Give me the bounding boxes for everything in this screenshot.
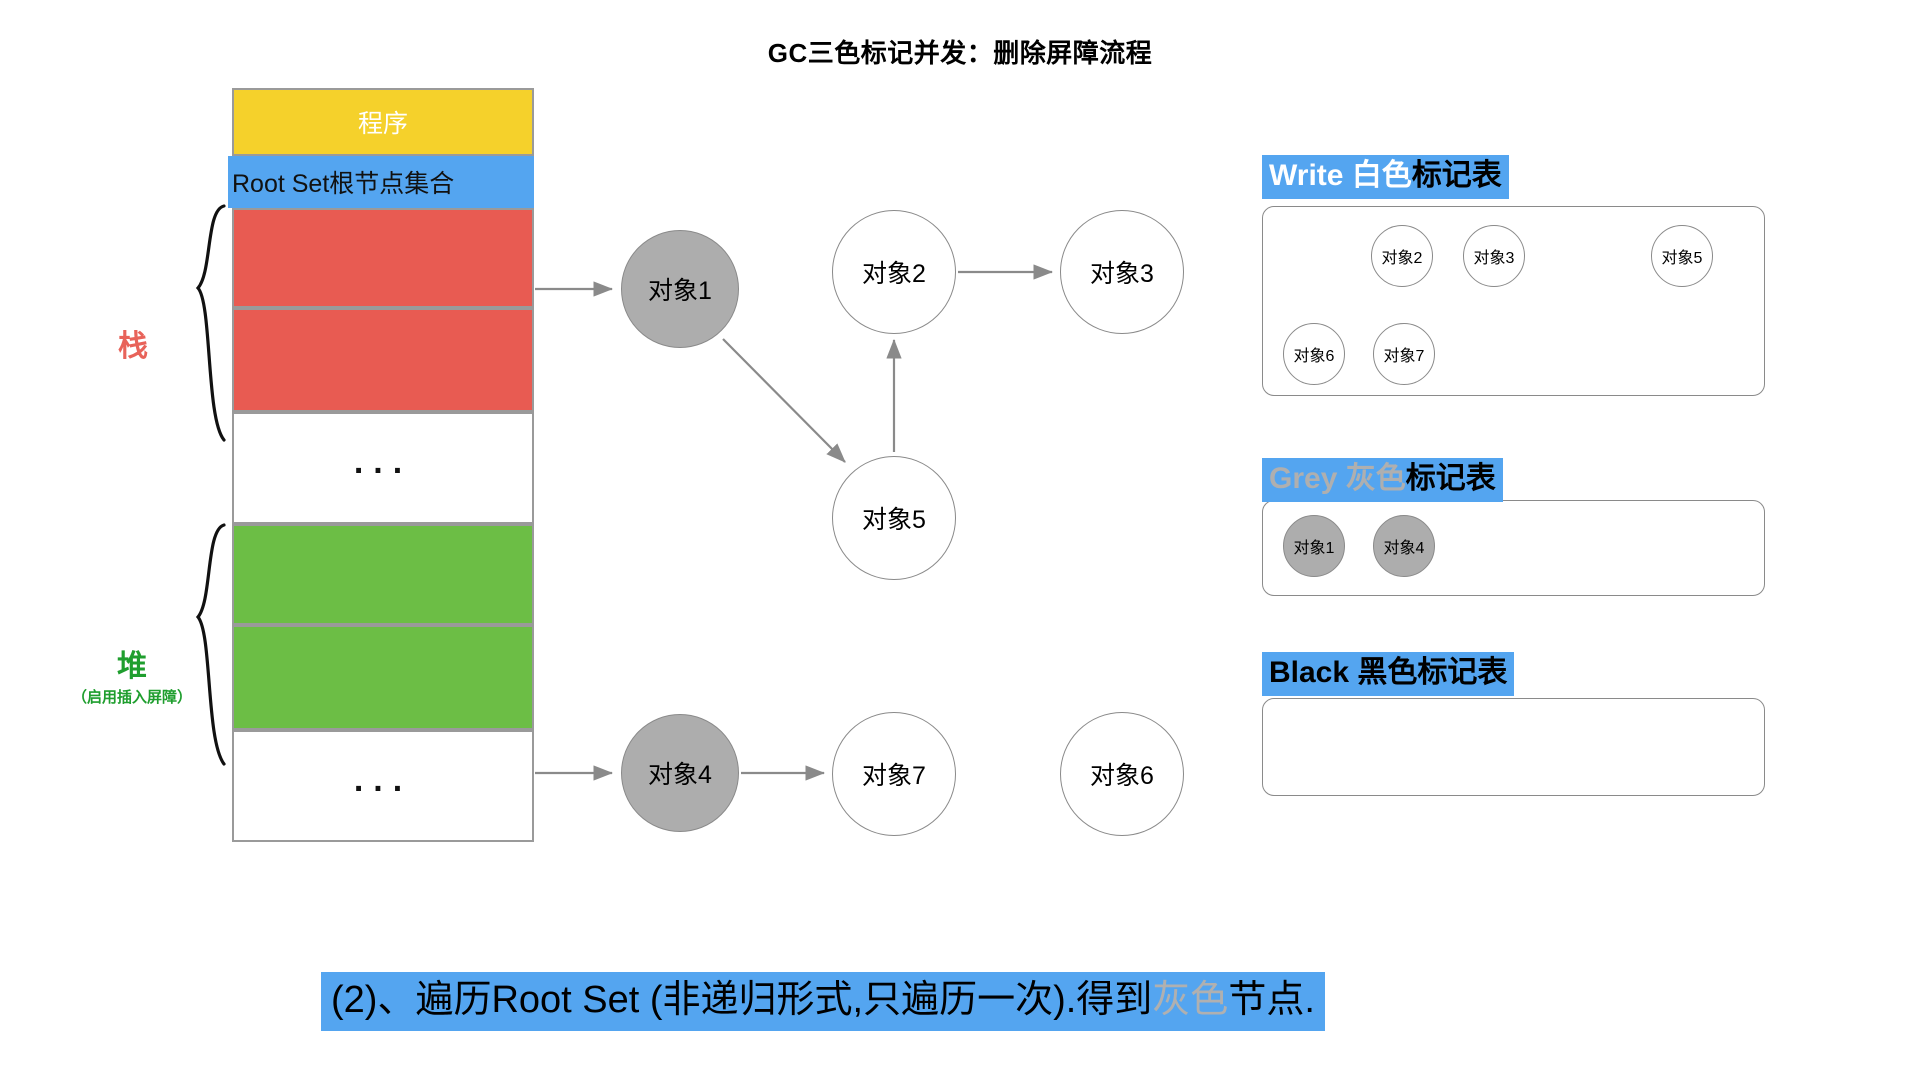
white-chip-obj2: 对象2 — [1371, 225, 1433, 287]
white-mark-table-title-color: 白色 — [1352, 159, 1412, 192]
step-caption: (2)、遍历Root Set (非递归形式,只遍历一次).得到灰色节点. — [321, 972, 1325, 1031]
root-set-block-label: Root Set根节点集合 — [232, 164, 454, 200]
white-chip-obj2-label: 对象2 — [1382, 244, 1423, 268]
black-mark-table-body — [1262, 698, 1765, 796]
heap-ellipsis-label: ... — [354, 763, 412, 797]
white-chip-obj3: 对象3 — [1463, 225, 1525, 287]
white-chip-obj3-label: 对象3 — [1474, 244, 1515, 268]
graph-node-obj3-label: 对象3 — [1090, 254, 1154, 290]
heap-ellipsis-slot: ... — [232, 730, 534, 842]
graph-node-obj6: 对象6 — [1060, 712, 1184, 836]
graph-node-obj2: 对象2 — [832, 210, 956, 334]
graph-node-obj5-label: 对象5 — [862, 500, 926, 536]
stack-brace — [198, 206, 224, 440]
black-mark-table-title-rest: 标记表 — [1417, 656, 1507, 689]
graph-node-obj1: 对象1 — [621, 230, 739, 348]
grey-mark-table-title-en: Grey — [1269, 462, 1337, 495]
white-mark-table-title-rest: 标记表 — [1412, 159, 1502, 192]
black-mark-table-title-color: 黑色 — [1357, 656, 1417, 689]
grey-mark-table-title-color: 灰色 — [1346, 462, 1406, 495]
heap-brace — [198, 525, 224, 764]
stack-slot-2 — [232, 308, 534, 412]
white-chip-obj5: 对象5 — [1651, 225, 1713, 287]
page-title: GC三色标记并发：删除屏障流程 — [0, 33, 1920, 70]
root-set-block: Root Set根节点集合 — [228, 156, 534, 208]
grey-chip-obj1-label: 对象1 — [1294, 534, 1335, 558]
heap-label-text: 堆 — [72, 650, 192, 685]
heap-label-sub: （启用插入屏障） — [72, 689, 192, 706]
heap-slot-2 — [232, 625, 534, 730]
heap-label: 堆 （启用插入屏障） — [72, 650, 192, 706]
step-caption-part1: (2)、遍历Root Set (非递归形式,只遍历一次).得到 — [331, 979, 1152, 1021]
edge-obj1-to-obj5 — [723, 339, 845, 462]
stack-label: 栈 — [88, 330, 178, 365]
grey-chip-obj4-label: 对象4 — [1384, 534, 1425, 558]
program-block-label: 程序 — [358, 104, 408, 140]
stack-ellipsis-slot: ... — [232, 412, 534, 524]
grey-mark-table-title: Grey 灰色标记表 — [1262, 458, 1503, 502]
graph-node-obj3: 对象3 — [1060, 210, 1184, 334]
white-chip-obj7: 对象7 — [1373, 323, 1435, 385]
step-caption-highlight: 灰色 — [1152, 979, 1228, 1021]
graph-node-obj5: 对象5 — [832, 456, 956, 580]
black-mark-table-title: Black 黑色标记表 — [1262, 652, 1514, 696]
white-chip-obj5-label: 对象5 — [1662, 244, 1703, 268]
stack-ellipsis-label: ... — [354, 445, 412, 479]
graph-node-obj4: 对象4 — [621, 714, 739, 832]
white-mark-table-title: Write 白色标记表 — [1262, 155, 1509, 199]
program-block: 程序 — [232, 88, 534, 156]
stack-slot-1 — [232, 208, 534, 308]
diagram-canvas: GC三色标记并发：删除屏障流程 程序 Root Set根节点集合 ... ...… — [0, 0, 1920, 1080]
grey-chip-obj4: 对象4 — [1373, 515, 1435, 577]
grey-chip-obj1: 对象1 — [1283, 515, 1345, 577]
graph-node-obj1-label: 对象1 — [648, 271, 712, 307]
white-chip-obj7-label: 对象7 — [1384, 342, 1425, 366]
graph-node-obj7: 对象7 — [832, 712, 956, 836]
grey-mark-table-title-rest: 标记表 — [1406, 462, 1496, 495]
white-mark-table-title-en: Write — [1269, 159, 1343, 192]
graph-node-obj2-label: 对象2 — [862, 254, 926, 290]
graph-node-obj4-label: 对象4 — [648, 755, 712, 791]
heap-slot-1 — [232, 524, 534, 625]
white-chip-obj6-label: 对象6 — [1294, 342, 1335, 366]
stack-label-text: 栈 — [88, 330, 178, 365]
step-caption-part2: 节点. — [1228, 979, 1315, 1021]
white-chip-obj6: 对象6 — [1283, 323, 1345, 385]
black-mark-table-title-en: Black — [1269, 656, 1349, 689]
graph-node-obj6-label: 对象6 — [1090, 756, 1154, 792]
graph-node-obj7-label: 对象7 — [862, 756, 926, 792]
